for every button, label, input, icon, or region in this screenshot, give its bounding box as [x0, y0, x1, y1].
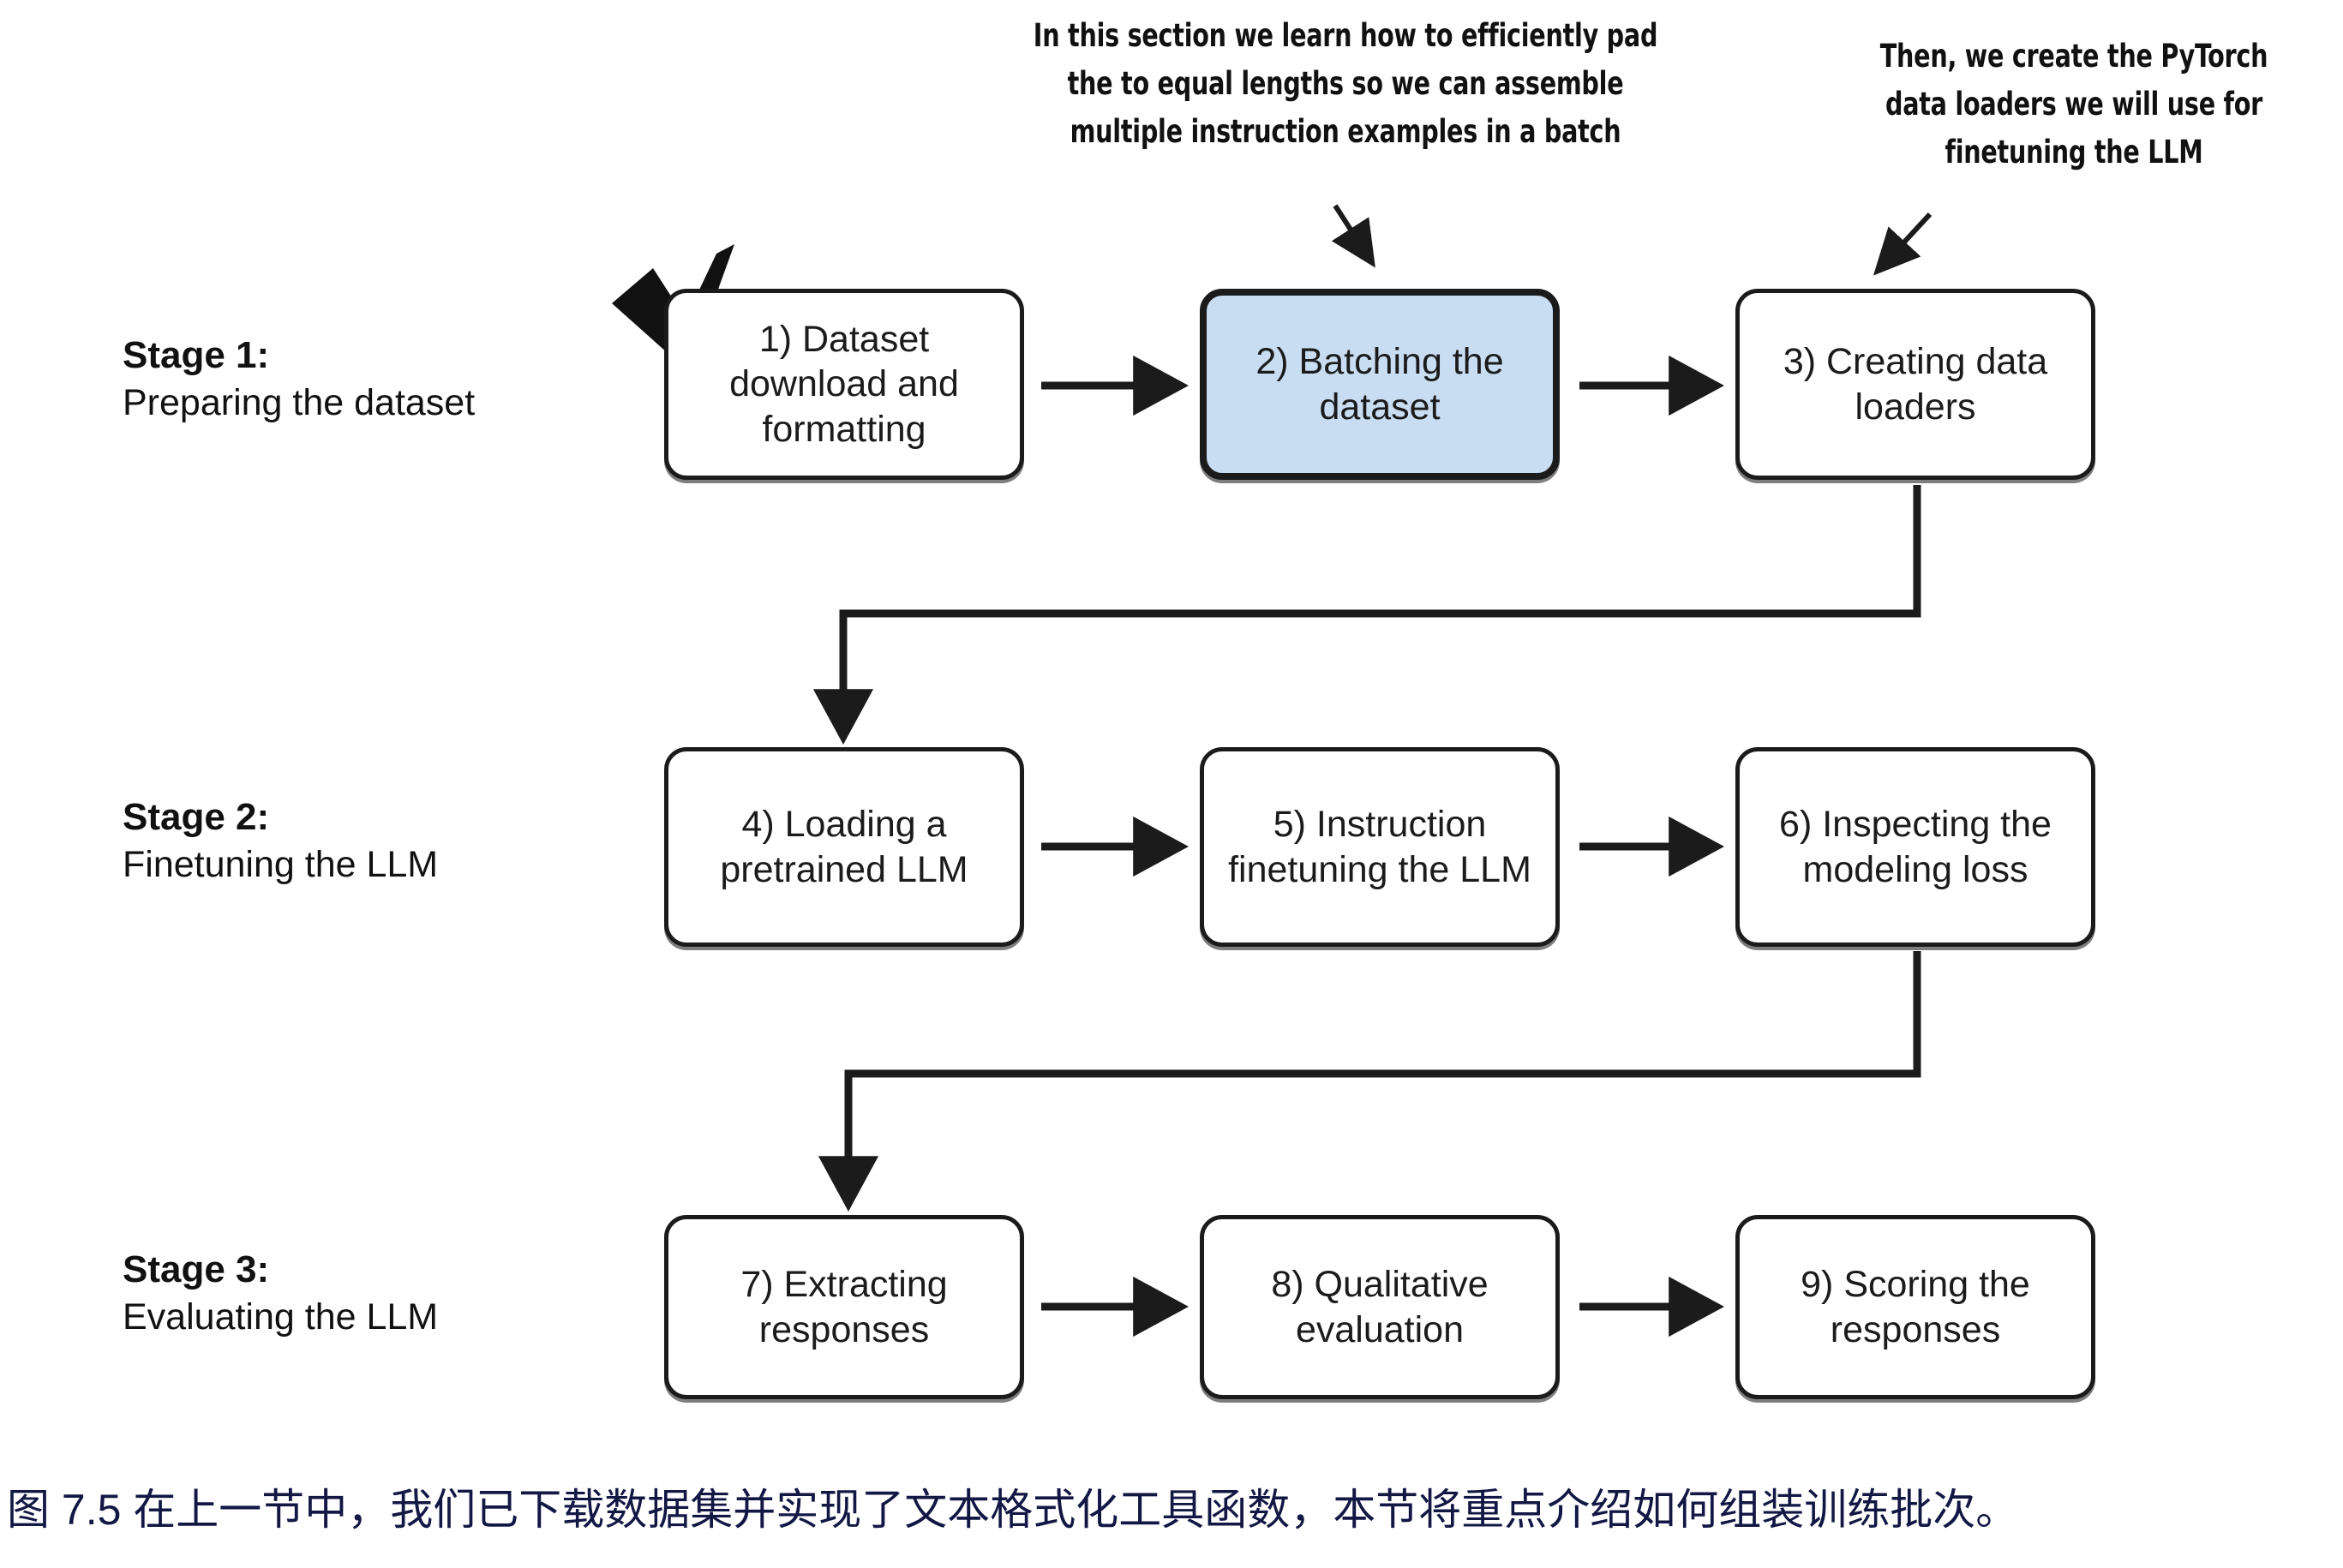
stage-label-3: Stage 3: Evaluating the LLM [123, 1245, 688, 1342]
step-box-2[interactable]: 2) Batching the dataset [1200, 289, 1560, 480]
annotation-batching-callout: In this section we learn how to efficien… [1014, 12, 1677, 157]
stage-label-1: Stage 1: Preparing the dataset [123, 331, 688, 428]
stage-1-subtitle: Preparing the dataset [123, 380, 688, 428]
step-box-7[interactable]: 7) Extracting responses [664, 1215, 1024, 1399]
figure-canvas: In this section we learn how to efficien… [0, 0, 2343, 1568]
figure-caption: 图 7.5 在上一节中，我们已下载数据集并实现了文本格式化工具函数，本节将重点介… [7, 1487, 2338, 1534]
stage-2-subtitle: Finetuning the LLM [123, 841, 688, 889]
step-box-1[interactable]: 1) Dataset download and formatting [664, 289, 1024, 480]
step-box-3[interactable]: 3) Creating data loaders [1735, 289, 2095, 480]
connector-stage1-to-stage2 [843, 485, 1917, 737]
step-box-5[interactable]: 5) Instruction finetuning the LLM [1200, 747, 1560, 947]
stage-3-title: Stage 3: [123, 1245, 688, 1294]
connector-stage2-to-stage3 [848, 951, 1917, 1204]
callout-arrow-dataloaders [1879, 214, 1930, 270]
step-box-6[interactable]: 6) Inspecting the modeling loss [1735, 747, 2095, 947]
annotation-dataloaders-callout: Then, we create the PyTorch data loaders… [1861, 33, 2288, 177]
stage-label-2: Stage 2: Finetuning the LLM [123, 793, 688, 889]
stage-2-title: Stage 2: [123, 793, 688, 841]
step-box-9[interactable]: 9) Scoring the responses [1735, 1215, 2095, 1399]
step-box-4[interactable]: 4) Loading a pretrained LLM [664, 747, 1024, 947]
stage-1-title: Stage 1: [123, 331, 688, 380]
callout-arrow-batching [1335, 206, 1371, 261]
step-box-8[interactable]: 8) Qualitative evaluation [1200, 1215, 1560, 1399]
stage-3-subtitle: Evaluating the LLM [123, 1294, 688, 1342]
